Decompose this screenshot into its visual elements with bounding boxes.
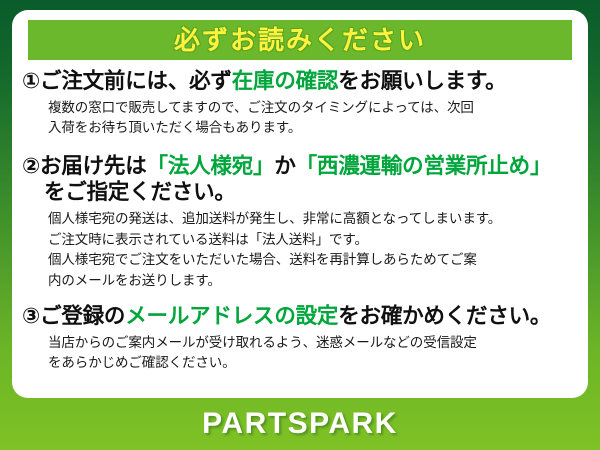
notice-item-1: ①ご注文前には、必ず在庫の確認をお願いします。 複数の窓口で販売してますので、ご… (22, 68, 578, 139)
notice-item-1-body-line-2: 入荷をお待ち頂いただく場合もあります。 (48, 118, 578, 139)
notice-item-2-heading: ②お届け先は「法人様宛」か「西濃運輸の営業所止め」をご指定ください。 (22, 153, 578, 206)
notice-item-2-body-line-2: ご注文時に表示されている送料は「法人送料」です。 (48, 230, 578, 251)
notice-item-1-body-line-1: 複数の窓口で販売してますので、ご注文のタイミングによっては、次回 (48, 98, 578, 119)
header-band: 必ずお読みください (28, 20, 572, 60)
notice-item-1-heading-part-3: をお願いします。 (338, 69, 506, 93)
notice-item-2-body-line-4: 内のメールをお送りします。 (48, 271, 578, 292)
notice-item-2-heading-part-1: お届け先は (40, 154, 147, 178)
brand-wordmark: PARTSPARK (202, 409, 398, 439)
notice-item-3-heading-part-1: ご登録の (40, 304, 125, 328)
notice-item-2: ②お届け先は「法人様宛」か「西濃運輸の営業所止め」をご指定ください。 個人様宅宛… (22, 153, 578, 291)
notice-item-3-heading-part-3: をお確かめください。 (338, 304, 551, 328)
notice-item-1-marker: ① (22, 69, 40, 93)
notice-item-3-body-line-2: をあらかじめご確認ください。 (48, 353, 578, 374)
notice-item-3: ③ご登録のメールアドレスの設定をお確かめください。 当店からのご案内メールが受け… (22, 303, 578, 374)
notice-item-2-marker: ② (22, 154, 40, 178)
notice-banner: 必ずお読みください ①ご注文前には、必ず在庫の確認をお願いします。 複数の窓口で… (0, 0, 600, 450)
notice-item-1-heading: ①ご注文前には、必ず在庫の確認をお願いします。 (22, 68, 578, 95)
notice-item-2-heading-part-3: か (274, 154, 295, 178)
notice-item-3-body-line-1: 当店からのご案内メールが受け取れるよう、迷惑メールなどの受信設定 (48, 333, 578, 354)
notice-item-2-heading-highlight-1: 「法人様宛」 (147, 154, 275, 178)
page-title: 必ずお読みください (174, 27, 426, 53)
footer-bar: PARTSPARK (0, 398, 600, 450)
notice-item-1-body: 複数の窓口で販売してますので、ご注文のタイミングによっては、次回 入荷をお待ち頂… (48, 98, 578, 139)
notice-item-2-body: 個人様宅宛の発送は、追加送料が発生し、非常に高額となってしまいます。 ご注文時に… (48, 209, 578, 291)
notice-item-2-body-line-1: 個人様宅宛の発送は、追加送料が発生し、非常に高額となってしまいます。 (48, 209, 578, 230)
notice-item-3-heading-highlight: メールアドレスの設定 (125, 304, 338, 328)
notice-item-3-body: 当店からのご案内メールが受け取れるよう、迷惑メールなどの受信設定 をあらかじめご… (48, 333, 578, 374)
notice-item-2-body-line-3: 個人様宅宛でご注文をいただいた場合、送料を再計算しあらためてご案 (48, 250, 578, 271)
notice-list: ①ご注文前には、必ず在庫の確認をお願いします。 複数の窓口で販売してますので、ご… (22, 68, 578, 374)
notice-item-1-heading-part-1: ご注文前には、必ず (40, 69, 232, 93)
notice-item-2-heading-line-2: をご指定ください。 (44, 179, 578, 206)
notice-item-3-marker: ③ (22, 304, 40, 328)
notice-item-1-heading-highlight: 在庫の確認 (232, 69, 339, 93)
notice-item-3-heading: ③ご登録のメールアドレスの設定をお確かめください。 (22, 303, 578, 330)
content-panel: 必ずお読みください ①ご注文前には、必ず在庫の確認をお願いします。 複数の窓口で… (12, 10, 588, 398)
notice-item-2-heading-highlight-2: 「西濃運輸の営業所止め」 (296, 154, 552, 178)
